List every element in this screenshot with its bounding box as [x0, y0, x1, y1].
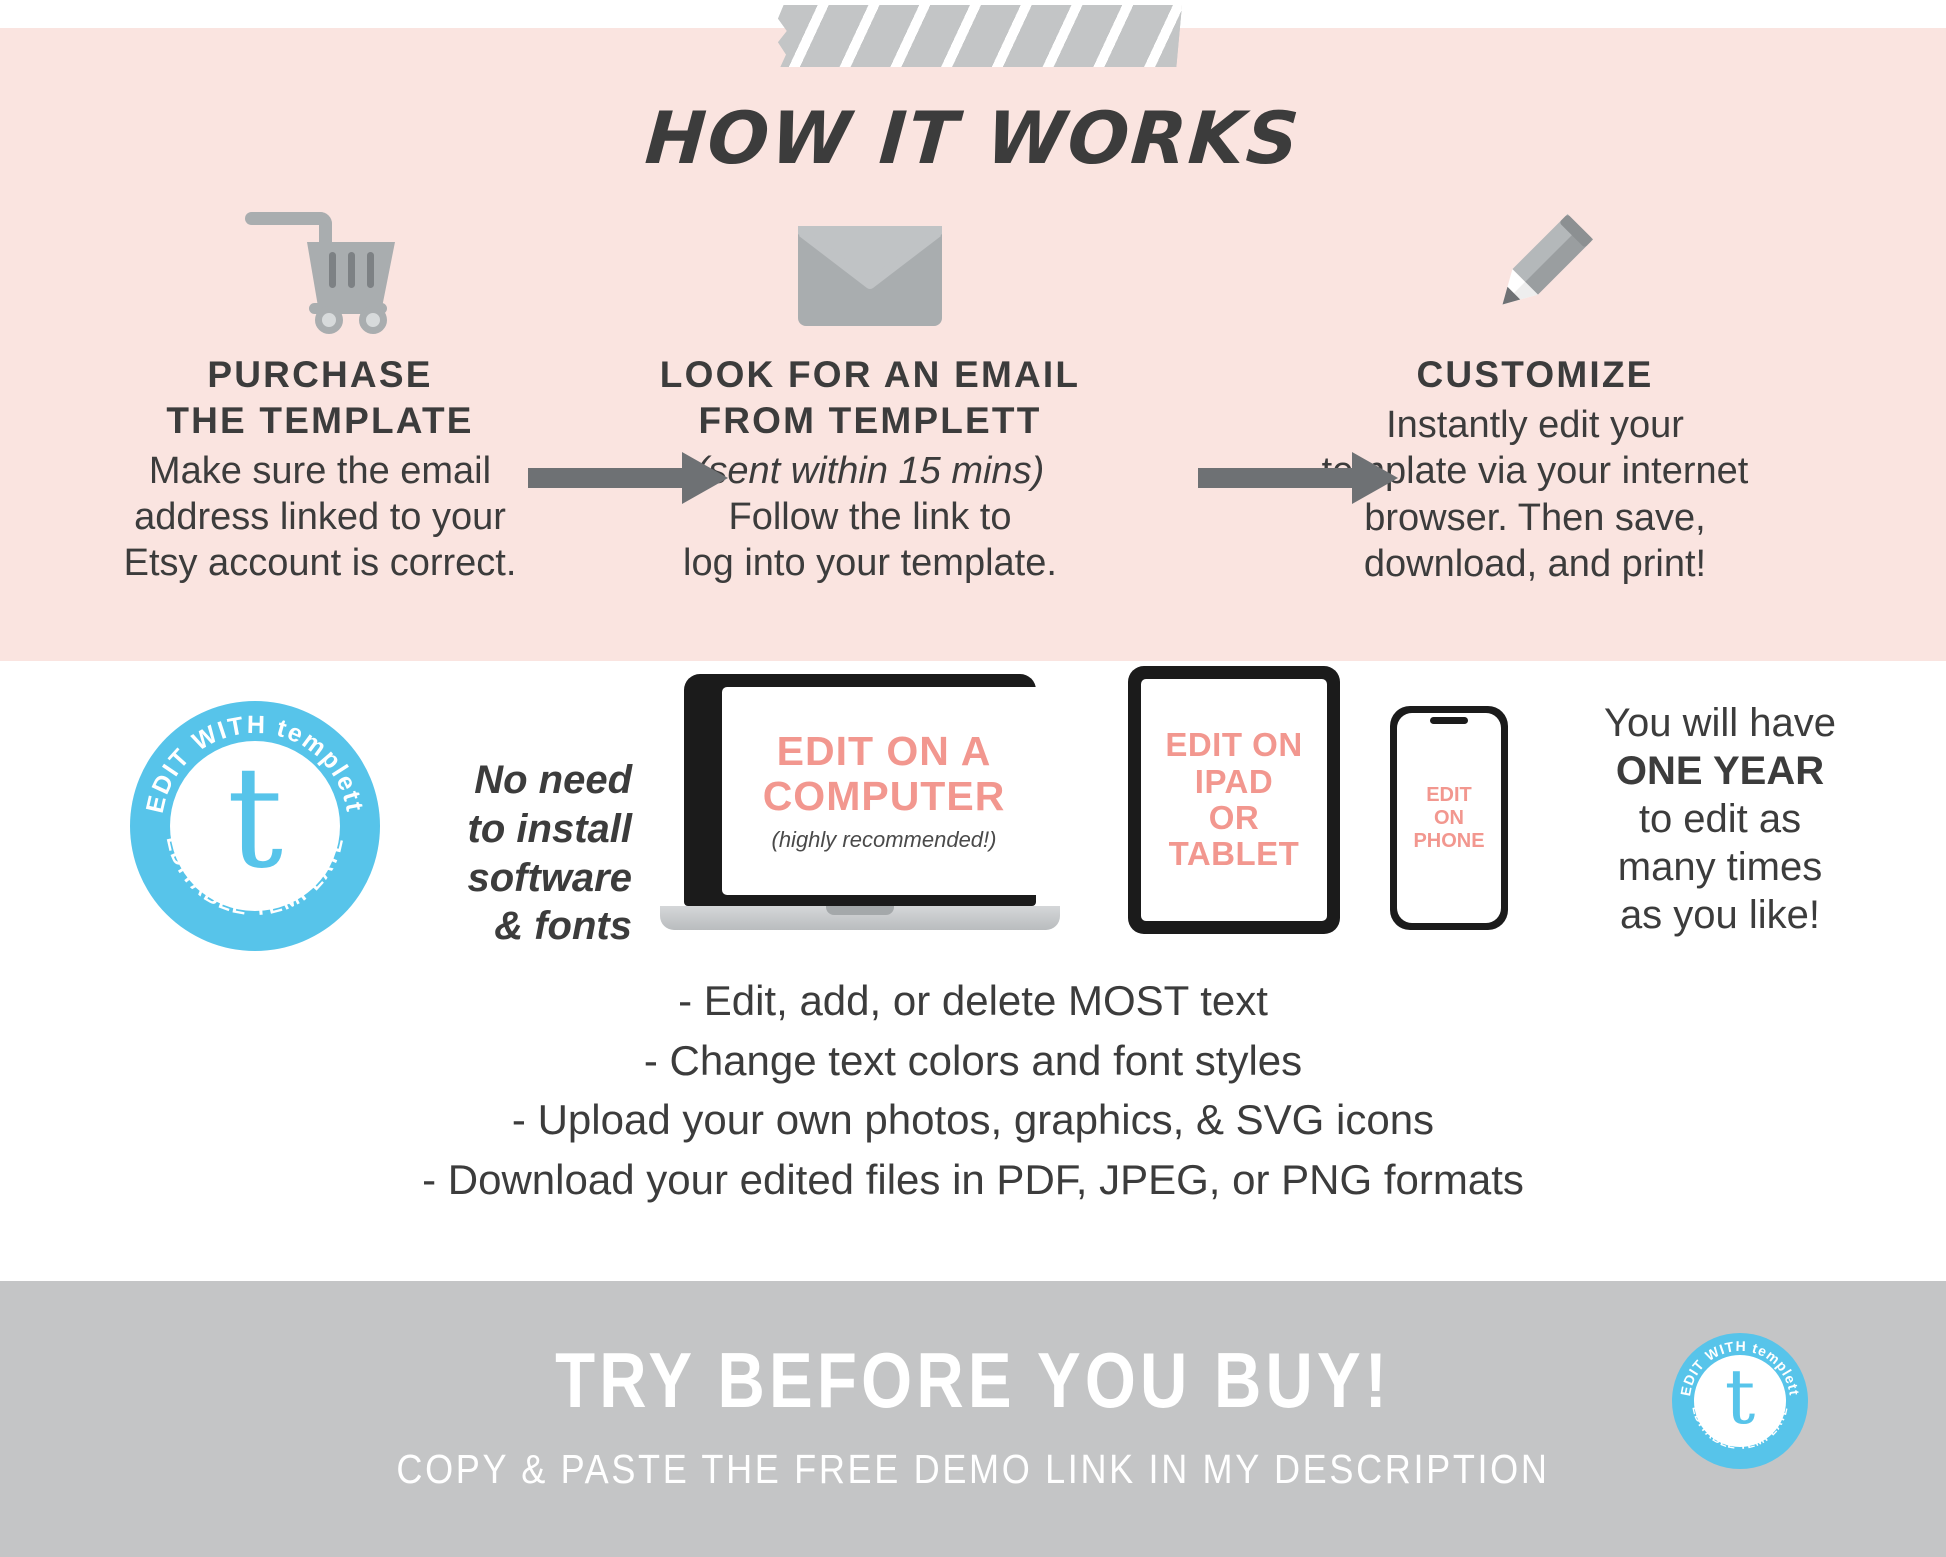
- step1-heading-line1: PURCHASE: [60, 352, 580, 398]
- step1-body-line3: Etsy account is correct.: [60, 540, 580, 586]
- no-install-line3: software: [432, 854, 632, 903]
- step-customize: CUSTOMIZE Instantly edit your template v…: [1170, 196, 1900, 587]
- phone-line1: EDIT: [1413, 784, 1484, 807]
- step-purchase: PURCHASE THE TEMPLATE Make sure the emai…: [60, 196, 580, 587]
- step3-heading-line1: CUSTOMIZE: [1170, 352, 1900, 398]
- footer-headline: TRY BEFORE YOU BUY!: [156, 1335, 1791, 1426]
- step3-body-line1: Instantly edit your: [1170, 402, 1900, 448]
- templett-badge-small: EDIT WITH templett EDITABLE TEMPLATE t: [1672, 1333, 1808, 1469]
- step2-icon-wrap: [600, 196, 1140, 326]
- list-item: - Download your edited files in PDF, JPE…: [0, 1150, 1946, 1210]
- templett-badge-large: EDIT WITH templett EDITABLE TEMPLATE t: [130, 701, 380, 951]
- shopping-cart-icon: [245, 206, 395, 326]
- tablet-screen-text: EDIT ON IPAD OR TABLET: [1165, 727, 1302, 872]
- badge-inner-circle: t: [170, 741, 340, 911]
- tablet-line1: EDIT ON: [1165, 727, 1302, 763]
- one-year-line2: ONE YEAR: [1616, 749, 1824, 793]
- infographic-page: HOW IT WORKS PURCHASE THE TEMPLATE Make …: [0, 0, 1946, 1557]
- step1-icon-wrap: [60, 196, 580, 326]
- one-year-text: You will have ONE YEAR to edit as many t…: [1520, 699, 1920, 939]
- arrow-right-icon-1: [528, 452, 728, 504]
- tablet-line4: TABLET: [1165, 836, 1302, 872]
- badge-small-letter: t: [1725, 1367, 1756, 1428]
- washi-tape-icon: [778, 5, 1182, 67]
- tablet-line2: IPAD: [1165, 764, 1302, 800]
- one-year-line4: many times: [1520, 843, 1920, 891]
- step1-heading-line2: THE TEMPLATE: [60, 398, 580, 444]
- laptop-screen-line1: EDIT ON A: [777, 729, 992, 773]
- phone-mockup: EDIT ON PHONE: [1390, 706, 1508, 930]
- phone-line2: ON: [1413, 807, 1484, 830]
- step3-heading: CUSTOMIZE: [1170, 352, 1900, 398]
- no-install-line1: No need: [432, 756, 632, 805]
- middle-section: EDIT WITH templett EDITABLE TEMPLATE t N…: [0, 661, 1946, 1281]
- tablet-mockup: EDIT ON IPAD OR TABLET: [1128, 666, 1340, 934]
- one-year-line5: as you like!: [1520, 891, 1920, 939]
- laptop-notch: [826, 906, 894, 915]
- footer-subline: COPY & PASTE THE FREE DEMO LINK IN MY DE…: [117, 1446, 1829, 1493]
- badge-small-inner-circle: t: [1694, 1355, 1786, 1447]
- steps-row: PURCHASE THE TEMPLATE Make sure the emai…: [0, 196, 1946, 626]
- pencil-icon: [1470, 206, 1600, 326]
- step3-body-line4: download, and print!: [1170, 541, 1900, 587]
- arrow-right-icon-2: [1198, 452, 1398, 504]
- list-item: - Change text colors and font styles: [0, 1031, 1946, 1091]
- list-item: - Upload your own photos, graphics, & SV…: [0, 1090, 1946, 1150]
- no-install-line4: & fonts: [432, 902, 632, 951]
- step2-heading: LOOK FOR AN EMAIL FROM TEMPLETT: [600, 352, 1140, 444]
- step2-heading-line2: FROM TEMPLETT: [600, 398, 1140, 444]
- list-item: - Edit, add, or delete MOST text: [0, 971, 1946, 1031]
- step2-body-line2: log into your template.: [600, 540, 1140, 586]
- step1-body-line2: address linked to your: [60, 494, 580, 540]
- laptop-screen: EDIT ON A COMPUTER (highly recommended!): [722, 687, 1046, 895]
- envelope-icon: [798, 226, 942, 326]
- tablet-screen: EDIT ON IPAD OR TABLET: [1141, 679, 1327, 921]
- step1-body: Make sure the email address linked to yo…: [60, 448, 580, 587]
- step3-icon-wrap: [1170, 196, 1900, 326]
- tablet-line3: OR: [1165, 800, 1302, 836]
- phone-screen: EDIT ON PHONE: [1397, 713, 1501, 923]
- step1-heading: PURCHASE THE TEMPLATE: [60, 352, 580, 444]
- phone-speaker-bar: [1430, 717, 1468, 724]
- phone-screen-text: EDIT ON PHONE: [1413, 784, 1484, 853]
- step2-heading-line1: LOOK FOR AN EMAIL: [600, 352, 1140, 398]
- laptop-screen-sub: (highly recommended!): [772, 827, 997, 853]
- one-year-line3: to edit as: [1520, 795, 1920, 843]
- badge-letter: t: [227, 763, 283, 875]
- step1-body-line1: Make sure the email: [60, 448, 580, 494]
- laptop-screen-line2: COMPUTER: [763, 774, 1006, 818]
- step-email: LOOK FOR AN EMAIL FROM TEMPLETT (sent wi…: [600, 196, 1140, 587]
- page-title: HOW IT WORKS: [0, 96, 1946, 180]
- footer-banner: TRY BEFORE YOU BUY! COPY & PASTE THE FRE…: [0, 1281, 1946, 1557]
- phone-line3: PHONE: [1413, 830, 1484, 853]
- features-list: - Edit, add, or delete MOST text - Chang…: [0, 971, 1946, 1210]
- one-year-line1: You will have: [1520, 699, 1920, 747]
- no-install-line2: to install: [432, 805, 632, 854]
- no-install-text: No need to install software & fonts: [432, 756, 632, 951]
- laptop-mockup: EDIT ON A COMPUTER (highly recommended!): [660, 674, 1060, 944]
- laptop-lid: EDIT ON A COMPUTER (highly recommended!): [684, 674, 1036, 906]
